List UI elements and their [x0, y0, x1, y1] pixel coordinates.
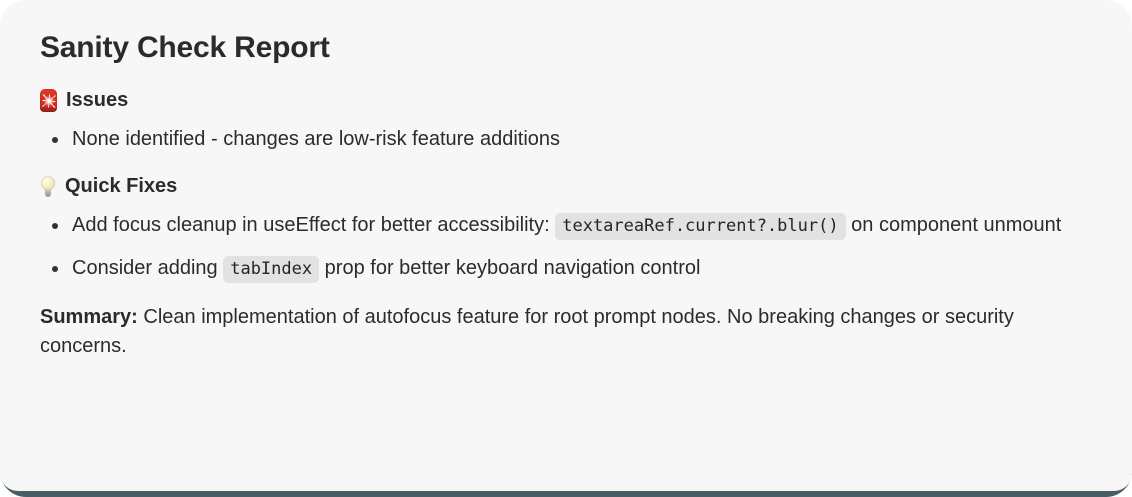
- list-item: Consider adding tabIndex prop for better…: [40, 254, 1092, 283]
- list-item-text: None identified - changes are low-risk f…: [72, 128, 560, 150]
- screenshot-root: Sanity Check Report Issues None identifi…: [0, 0, 1132, 497]
- section-heading-label: Quick Fixes: [65, 174, 177, 199]
- section-heading-issues: Issues: [40, 88, 1092, 113]
- summary-label: Summary:: [40, 306, 138, 328]
- sanity-check-report-card: Sanity Check Report Issues None identifi…: [0, 0, 1132, 491]
- bullet-dot-icon: [52, 266, 58, 272]
- list-item-text: Add focus cleanup in useEffect for bette…: [72, 214, 550, 236]
- list-item: None identified - changes are low-risk f…: [40, 125, 1092, 154]
- summary-paragraph: Summary: Clean implementation of autofoc…: [40, 303, 1092, 361]
- section-heading-label: Issues: [66, 88, 128, 113]
- police-car-light-emoji: [40, 89, 57, 112]
- code-snippet: tabIndex: [223, 256, 319, 283]
- bullet-dot-icon: [52, 137, 58, 143]
- light-bulb-emoji: [40, 175, 56, 198]
- summary-text: Clean implementation of autofocus featur…: [40, 306, 1014, 357]
- list-item-text: Consider adding: [72, 257, 218, 279]
- bullet-dot-icon: [52, 223, 58, 229]
- issues-list: None identified - changes are low-risk f…: [40, 125, 1092, 154]
- quick-fixes-list: Add focus cleanup in useEffect for bette…: [40, 211, 1092, 283]
- list-item-text-continued: prop for better keyboard navigation cont…: [325, 257, 701, 279]
- list-item: Add focus cleanup in useEffect for bette…: [40, 211, 1092, 240]
- list-item-text-continued: on component unmount: [851, 214, 1061, 236]
- code-snippet: textareaRef.current?.blur(): [555, 213, 845, 240]
- section-heading-quick-fixes: Quick Fixes: [40, 174, 1092, 199]
- page-title: Sanity Check Report: [40, 30, 1092, 66]
